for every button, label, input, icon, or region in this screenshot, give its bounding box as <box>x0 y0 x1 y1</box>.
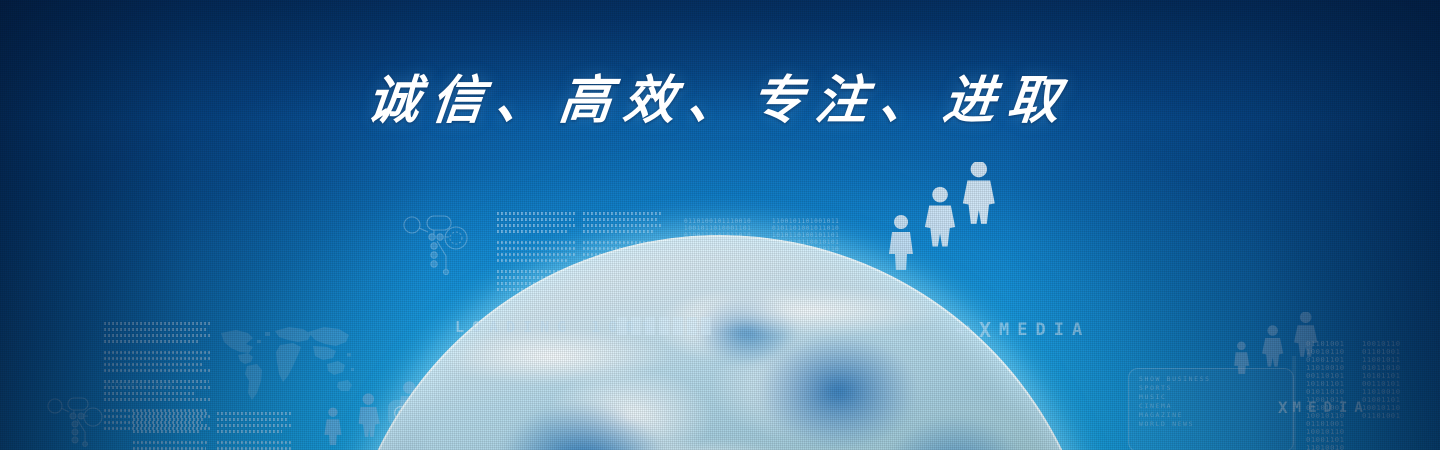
page-title: 诚信、高效、专注、进取 <box>0 58 1440 133</box>
panel-divider <box>1292 356 1296 450</box>
channel-item-3: CINEMA <box>1139 402 1283 411</box>
earth-globe: WORLD GLOBAL NETWORK ONLINE SATELLITE DA… <box>340 235 1100 450</box>
channel-panel[interactable]: SHOW BUSINESS SPORTS MUSIC CINEMA MAGAZI… <box>1128 368 1294 450</box>
channel-item-5: WORLD NEWS <box>1139 420 1283 429</box>
brand-x-mark-bottom: X <box>1278 398 1288 417</box>
media-label: MEDIA <box>999 320 1090 340</box>
brand-x-mark: X <box>979 318 991 342</box>
channel-item-0: SHOW BUSINESS <box>1139 375 1283 384</box>
binary-block-right-c: 01101001 10010110 01001101 11010010 <box>1306 420 1345 450</box>
channel-item-4: MAGAZINE <box>1139 411 1283 420</box>
binary-strip-bottom-left: 0110100101110010 <box>105 382 172 389</box>
loading-progress-bar <box>617 317 713 335</box>
channel-item-1: SPORTS <box>1139 384 1283 393</box>
speaker-icon <box>955 323 971 337</box>
data-textblock-bottom-left-a <box>133 412 209 450</box>
binary-block-right-b: 10010110 01101001 11001011 01011010 1010… <box>1362 340 1401 420</box>
network-node-graphic-left <box>44 392 106 450</box>
media-brand-top: X MEDIA <box>955 318 1090 342</box>
hero-banner: 0110100101110010 <box>0 0 1440 450</box>
binary-block-right-a: 01101001 10010110 01001101 11010010 0011… <box>1306 340 1345 420</box>
channel-item-2: MUSIC <box>1139 393 1283 402</box>
